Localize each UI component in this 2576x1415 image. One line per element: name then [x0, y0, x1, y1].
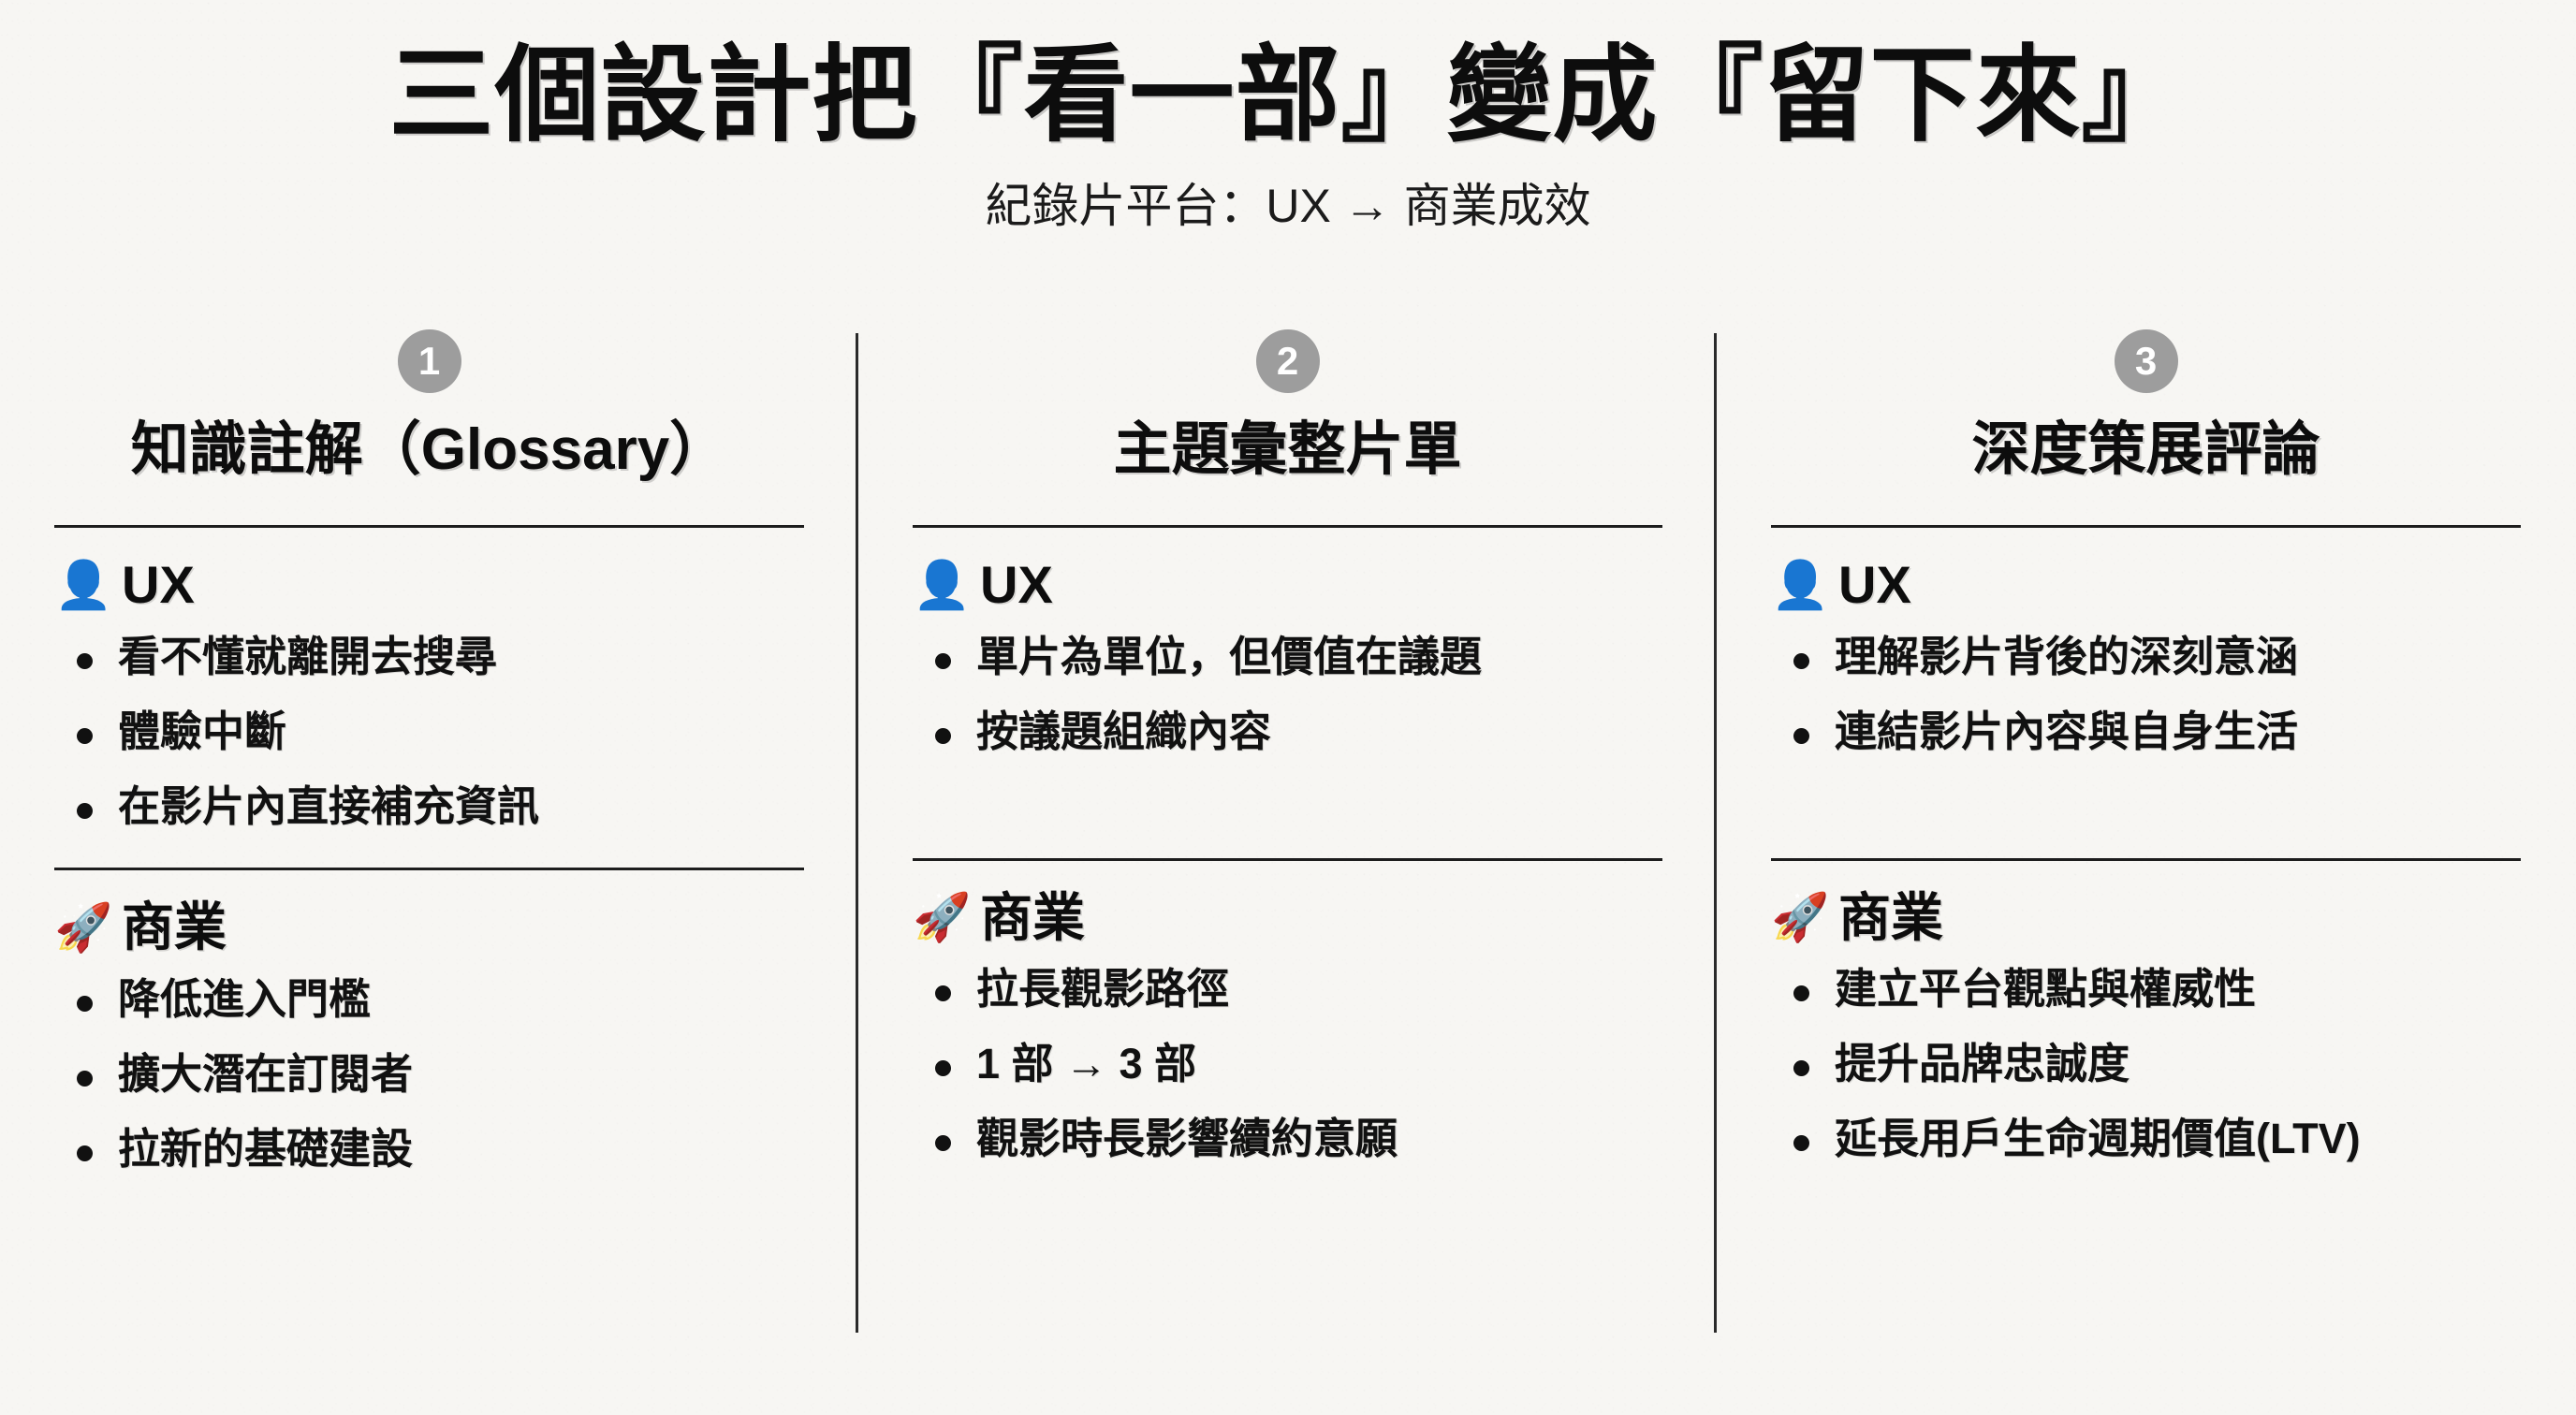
ux-section-head-2: 👤 UX	[913, 556, 1662, 614]
section-divider-3	[1771, 858, 2521, 861]
business-bullets-2: 拉長觀影路徑 1 部 → 3 部 觀影時長影響續約意願	[913, 959, 1662, 1169]
column-2: 2 主題彙整片單 👤 UX 單片為單位，但價值在議題 按議題組織內容 🚀 商業	[858, 329, 1717, 1359]
list-item: 1 部 → 3 部	[928, 1034, 1662, 1094]
ux-section-head-1: 👤 UX	[54, 556, 804, 614]
ux-bullets-1: 看不懂就離開去搜尋 體驗中斷 在影片內直接補充資訊	[54, 627, 804, 837]
business-section-1: 🚀 商業 降低進入門檻 擴大潛在訂閱者 拉新的基礎建設	[54, 898, 804, 1178]
list-item: 拉長觀影路徑	[928, 959, 1662, 1019]
business-bullets-3: 建立平台觀點與權威性 提升品牌忠誠度 延長用戶生命週期價值(LTV)	[1771, 959, 2521, 1169]
ux-bullets-3: 理解影片背後的深刻意涵 連結影片內容與自身生活	[1771, 627, 2521, 762]
step-badge-1: 1	[398, 329, 461, 393]
page-subtitle: 紀錄片平台：UX → 商業成效	[0, 178, 2576, 234]
column-title-2: 主題彙整片單	[913, 416, 1662, 484]
business-section-label-3: 商業	[1838, 889, 1943, 947]
ux-section-label-3: UX	[1838, 556, 1911, 614]
slide-root: 三個設計把『看一部』變成『留下來』 紀錄片平台：UX → 商業成效 1 知識註解…	[0, 0, 2576, 1415]
badge-row-3: 3	[1771, 329, 2521, 416]
step-badge-3: 3	[2115, 329, 2178, 393]
column-3: 3 深度策展評論 👤 UX 理解影片背後的深刻意涵 連結影片內容與自身生活 🚀 …	[1717, 329, 2575, 1359]
ux-section-head-3: 👤 UX	[1771, 556, 2521, 614]
rocket-icon: 🚀	[1771, 894, 1823, 941]
business-bullets-1: 降低進入門檻 擴大潛在訂閱者 拉新的基礎建設	[54, 970, 804, 1179]
list-item: 在影片內直接補充資訊	[69, 777, 804, 837]
ux-section-2: 👤 UX 單片為單位，但價值在議題 按議題組織內容	[913, 556, 1662, 761]
person-icon: 👤	[1771, 562, 1823, 608]
badge-row-1: 1	[54, 329, 804, 416]
list-item: 按議題組織內容	[928, 702, 1662, 762]
column-title-rule-3	[1771, 525, 2521, 528]
step-badge-2: 2	[1256, 329, 1320, 393]
column-title-rule-1	[54, 525, 804, 528]
ux-section-label-2: UX	[980, 556, 1053, 614]
list-item: 單片為單位，但價值在議題	[928, 627, 1662, 687]
list-item: 提升品牌忠誠度	[1786, 1034, 2521, 1094]
column-title-rule-2	[913, 525, 1662, 528]
slide-header: 三個設計把『看一部』變成『留下來』 紀錄片平台：UX → 商業成效	[0, 0, 2576, 234]
business-section-head-2: 🚀 商業	[913, 889, 1662, 947]
list-item: 體驗中斷	[69, 702, 804, 762]
business-section-2: 🚀 商業 拉長觀影路徑 1 部 → 3 部 觀影時長影響續約意願	[913, 889, 1662, 1169]
ux-bullets-2: 單片為單位，但價值在議題 按議題組織內容	[913, 627, 1662, 762]
person-icon: 👤	[913, 562, 965, 608]
business-section-label-1: 商業	[122, 898, 227, 956]
ux-section-label-1: UX	[122, 556, 195, 614]
business-section-head-3: 🚀 商業	[1771, 889, 2521, 947]
business-section-head-1: 🚀 商業	[54, 898, 804, 956]
list-item: 拉新的基礎建設	[69, 1119, 804, 1179]
column-title-1: 知識註解（Glossary）	[54, 416, 804, 484]
business-section-label-2: 商業	[980, 889, 1085, 947]
ux-section-1: 👤 UX 看不懂就離開去搜尋 體驗中斷 在影片內直接補充資訊	[54, 556, 804, 836]
list-item: 建立平台觀點與權威性	[1786, 959, 2521, 1019]
list-item: 擴大潛在訂閱者	[69, 1044, 804, 1104]
section-divider-1	[54, 868, 804, 870]
business-section-3: 🚀 商業 建立平台觀點與權威性 提升品牌忠誠度 延長用戶生命週期價值(LTV)	[1771, 889, 2521, 1169]
column-1: 1 知識註解（Glossary） 👤 UX 看不懂就離開去搜尋 體驗中斷 在影片…	[0, 329, 858, 1359]
rocket-icon: 🚀	[913, 894, 965, 941]
list-item: 看不懂就離開去搜尋	[69, 627, 804, 687]
list-item: 理解影片背後的深刻意涵	[1786, 627, 2521, 687]
column-title-3: 深度策展評論	[1771, 416, 2521, 484]
rocket-icon: 🚀	[54, 904, 107, 951]
section-divider-2	[913, 858, 1662, 861]
list-item: 連結影片內容與自身生活	[1786, 702, 2521, 762]
columns-container: 1 知識註解（Glossary） 👤 UX 看不懂就離開去搜尋 體驗中斷 在影片…	[0, 329, 2576, 1359]
person-icon: 👤	[54, 562, 107, 608]
ux-section-3: 👤 UX 理解影片背後的深刻意涵 連結影片內容與自身生活	[1771, 556, 2521, 761]
list-item: 延長用戶生命週期價值(LTV)	[1786, 1109, 2521, 1169]
list-item: 觀影時長影響續約意願	[928, 1109, 1662, 1169]
page-title: 三個設計把『看一部』變成『留下來』	[0, 34, 2576, 157]
list-item: 降低進入門檻	[69, 970, 804, 1029]
badge-row-2: 2	[913, 329, 1662, 416]
